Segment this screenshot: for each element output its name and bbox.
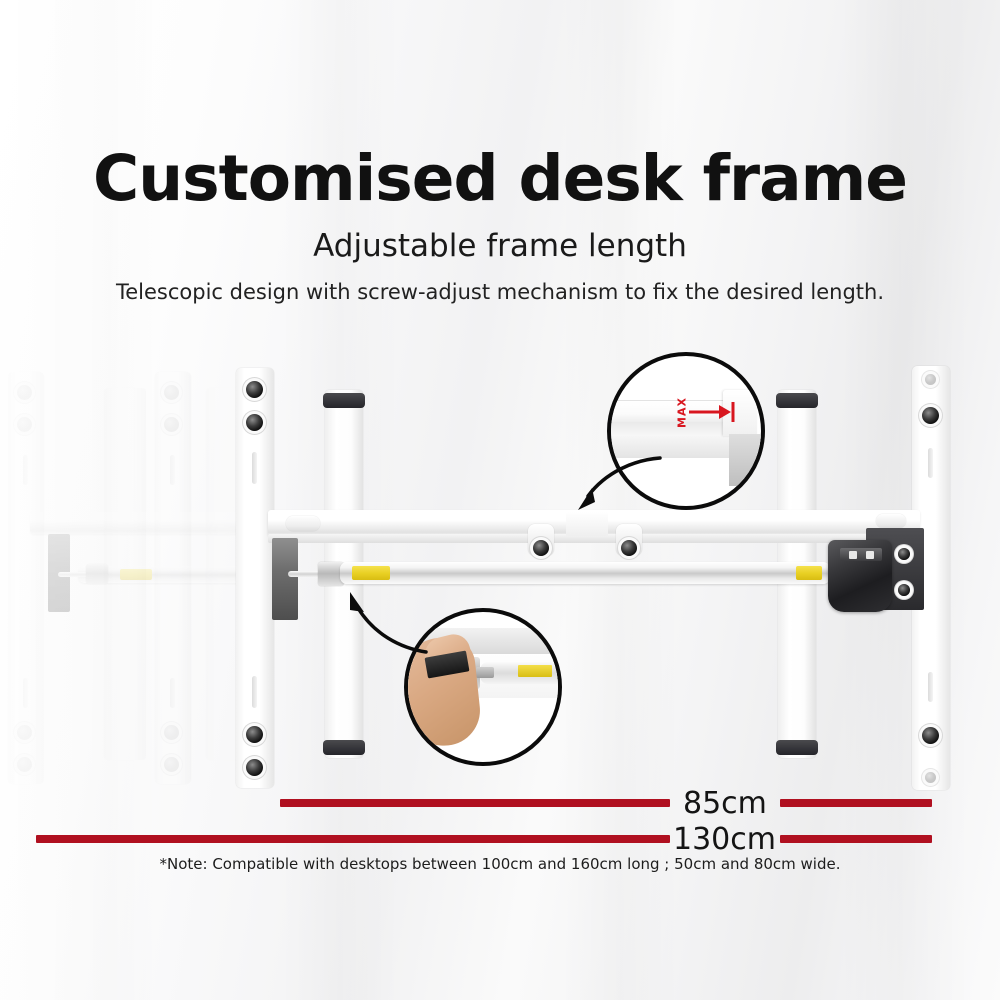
page-subtitle: Adjustable frame length (0, 228, 1000, 264)
page-title: Customised desk frame (0, 142, 1000, 215)
measure-label-130: 130cm (673, 822, 776, 857)
callout-screw-arrow-icon (330, 582, 440, 662)
compatibility-note: *Note: Compatible with desktops between … (0, 855, 1000, 873)
measure-line-85-right (780, 799, 932, 807)
measure-line-130-left (36, 835, 670, 843)
measure-label-85: 85cm (683, 786, 767, 821)
measure-line-85-left (280, 799, 670, 807)
infographic-canvas: Customised desk frame Adjustable frame l… (0, 0, 1000, 1000)
callout-max-arrow-icon (548, 442, 668, 532)
measure-line-130-right (780, 835, 932, 843)
max-arrow-icon (689, 402, 737, 422)
page-description: Telescopic design with screw-adjust mech… (0, 280, 1000, 304)
